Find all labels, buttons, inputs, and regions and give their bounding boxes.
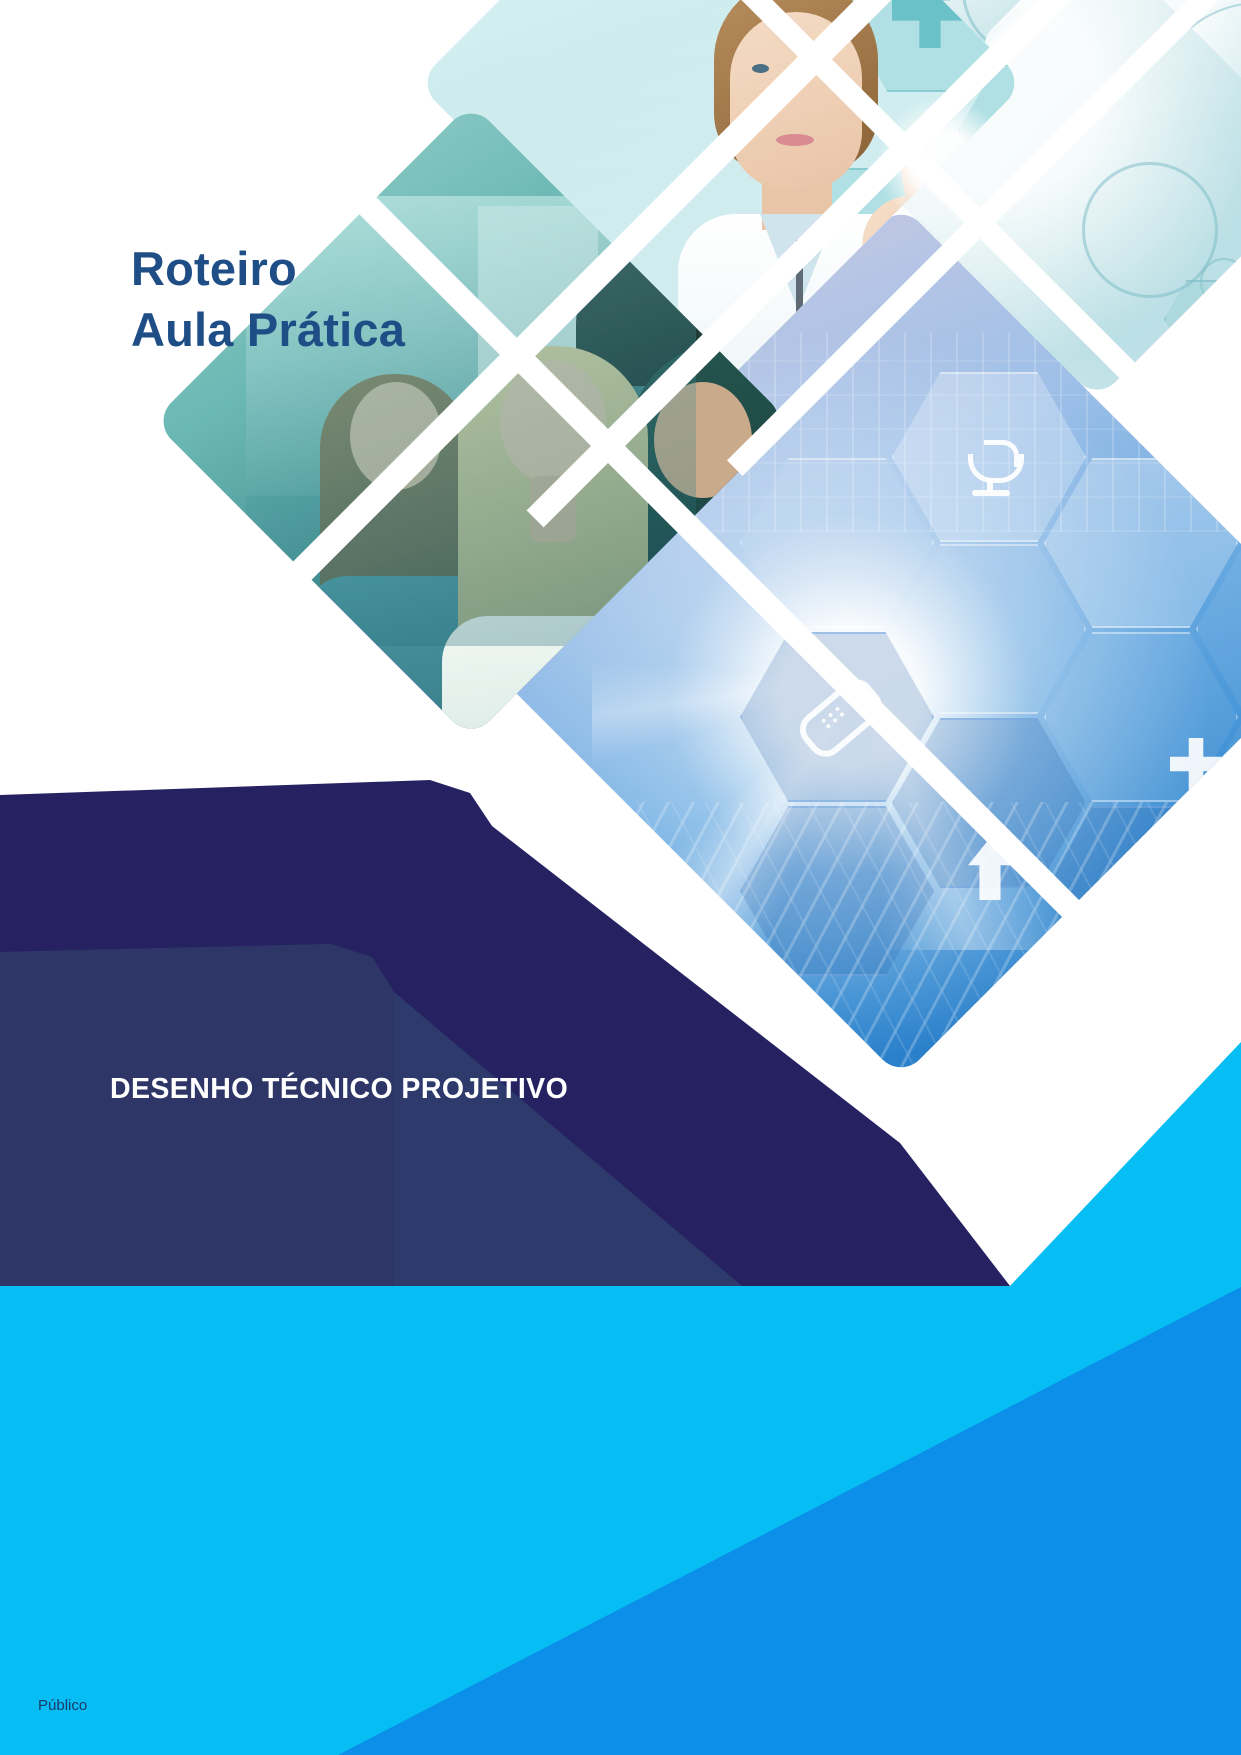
page-title: Roteiro Aula Prática xyxy=(131,238,405,360)
classification-label: Público xyxy=(38,1697,87,1714)
subject-title: DESENHO TÉCNICO PROJETIVO xyxy=(110,1073,568,1106)
document-cover-page: Roteiro Aula Prática DESENHO TÉCNICO PRO… xyxy=(0,0,1241,1755)
